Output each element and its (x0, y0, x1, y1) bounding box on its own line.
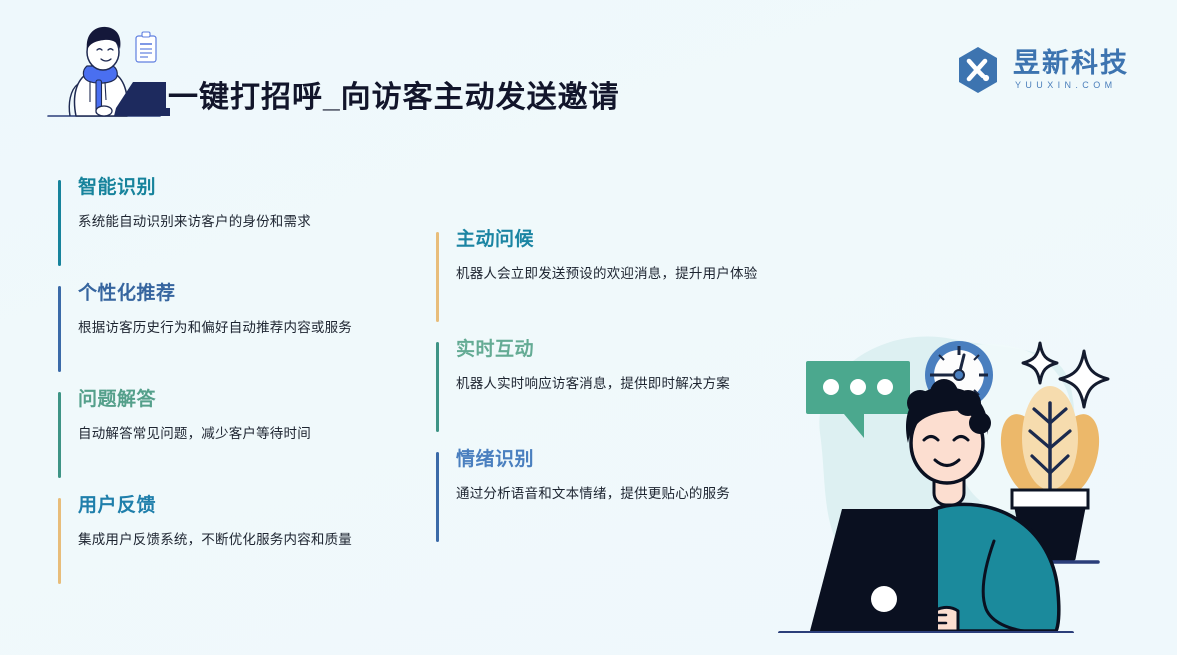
feature-title: 用户反馈 (78, 496, 408, 517)
page-title: 一键打招呼_向访客主动发送邀请 (168, 72, 620, 116)
feature-description: 机器人会立即发送预设的欢迎消息，提升用户体验 (456, 265, 791, 284)
feature-description: 集成用户反馈系统，不断优化服务内容和质量 (78, 531, 408, 550)
feature-item: 主动问候 机器人会立即发送预设的欢迎消息，提升用户体验 (436, 230, 791, 318)
feature-title: 情绪识别 (456, 450, 791, 471)
feature-description: 根据访客历史行为和偏好自动推荐内容或服务 (78, 319, 408, 338)
slide-header: 一键打招呼_向访客主动发送邀请 昱新科技 YUUXIN.COM (0, 0, 1177, 140)
feature-column-middle: 主动问候 机器人会立即发送预设的欢迎消息，提升用户体验 实时互动 机器人实时响应… (436, 230, 791, 560)
feature-accent-bar (58, 498, 61, 584)
person-with-laptop-illustration (32, 12, 172, 124)
feature-title: 实时互动 (456, 340, 791, 361)
feature-title: 主动问候 (456, 230, 791, 251)
feature-accent-bar (436, 342, 439, 432)
feature-item: 实时互动 机器人实时响应访客消息，提供即时解决方案 (436, 340, 791, 428)
slide-root: 一键打招呼_向访客主动发送邀请 昱新科技 YUUXIN.COM 智能识别 系统能… (0, 0, 1177, 655)
feature-title: 智能识别 (78, 178, 408, 199)
feature-description: 自动解答常见问题，减少客户等待时间 (78, 425, 408, 444)
feature-item: 问题解答 自动解答常见问题，减少客户等待时间 (58, 390, 408, 474)
brand-text: 昱新科技 YUUXIN.COM (1013, 50, 1129, 90)
feature-description: 机器人实时响应访客消息，提供即时解决方案 (456, 375, 791, 394)
feature-description: 通过分析语音和文本情绪，提供更贴心的服务 (456, 485, 791, 504)
feature-accent-bar (58, 180, 61, 266)
feature-item: 智能识别 系统能自动识别来访客户的身份和需求 (58, 178, 408, 262)
feature-accent-bar (58, 392, 61, 478)
brand-name: 昱新科技 (1013, 50, 1129, 77)
brand-logo: 昱新科技 YUUXIN.COM (953, 45, 1129, 95)
feature-column-left: 智能识别 系统能自动识别来访客户的身份和需求 个性化推荐 根据访客历史行为和偏好… (58, 178, 408, 602)
feature-accent-bar (436, 452, 439, 542)
brand-domain: YUUXIN.COM (1013, 81, 1129, 90)
feature-description: 系统能自动识别来访客户的身份和需求 (78, 213, 408, 232)
feature-item: 情绪识别 通过分析语音和文本情绪，提供更贴心的服务 (436, 450, 791, 538)
hexagon-x-logo-icon (953, 45, 1003, 95)
feature-item: 个性化推荐 根据访客历史行为和偏好自动推荐内容或服务 (58, 284, 408, 368)
feature-accent-bar (436, 232, 439, 322)
feature-title: 个性化推荐 (78, 284, 408, 305)
feature-title: 问题解答 (78, 390, 408, 411)
feature-item: 用户反馈 集成用户反馈系统，不断优化服务内容和质量 (58, 496, 408, 580)
support-agent-illustration (772, 303, 1167, 633)
feature-accent-bar (58, 286, 61, 372)
